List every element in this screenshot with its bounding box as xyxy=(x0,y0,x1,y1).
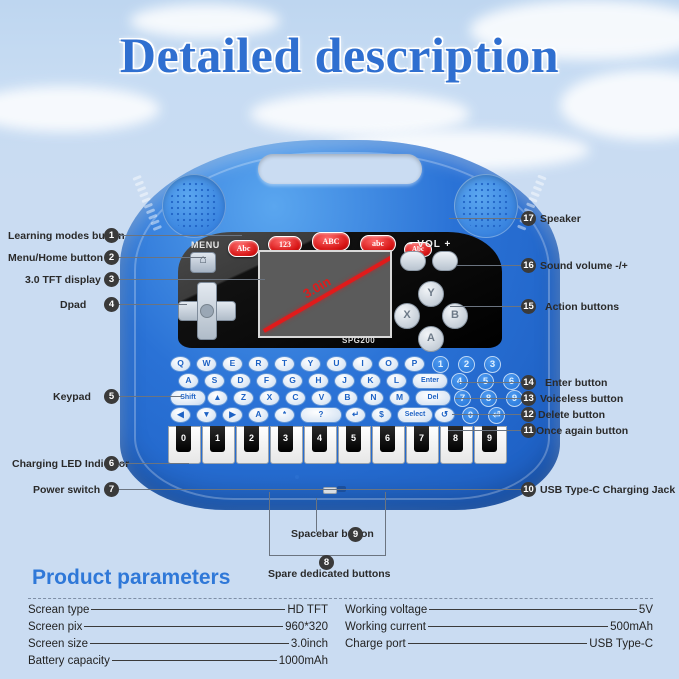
callout-line-2 xyxy=(119,257,206,258)
key-x[interactable]: ◀ xyxy=(170,407,191,423)
parameter-key: Battery capacity xyxy=(28,655,110,667)
callout-bracket-left xyxy=(269,492,270,555)
callout-label-16: Sound volume -/+ xyxy=(540,260,628,272)
callout-number-1: 1 xyxy=(104,228,119,243)
key-x[interactable]: * xyxy=(274,407,295,423)
key-x[interactable]: ▲ xyxy=(207,390,228,406)
key-3[interactable]: 3 xyxy=(484,356,501,373)
parameter-leader xyxy=(112,660,277,661)
parameter-leader xyxy=(90,643,289,644)
key-w[interactable]: W xyxy=(196,356,217,372)
key-select[interactable]: Select xyxy=(397,407,433,423)
callout-number-13: 13 xyxy=(521,391,536,406)
callout-line-11 xyxy=(448,430,521,431)
callout-label-12: Delete button xyxy=(538,409,605,421)
key-g[interactable]: G xyxy=(282,373,303,389)
piano-black-key-2[interactable]: 2 xyxy=(244,426,259,452)
key-x[interactable]: $ xyxy=(371,407,392,423)
key-enter[interactable]: Enter xyxy=(412,373,448,389)
product-parameters-title: Product parameters xyxy=(32,566,230,590)
callout-number-2: 2 xyxy=(104,250,119,265)
volume-label: − VOL + xyxy=(398,239,460,250)
action-button-y[interactable]: Y xyxy=(418,281,444,307)
parameter-value: 960*320 xyxy=(285,621,328,633)
dpad-center xyxy=(200,304,214,318)
callout-number-14: 14 xyxy=(521,375,536,390)
callout-line-17 xyxy=(449,218,521,219)
piano-black-key-7[interactable]: 7 xyxy=(414,426,429,452)
parameter-row: Screen size3.0inch xyxy=(28,638,328,655)
key-shift[interactable]: Shift xyxy=(170,390,206,406)
parameter-row: Charge portUSB Type-C xyxy=(345,638,653,655)
key-b[interactable]: B xyxy=(337,390,358,406)
key-e[interactable]: E xyxy=(222,356,243,372)
key-r[interactable]: R xyxy=(248,356,269,372)
callout-label-15: Action buttons xyxy=(545,301,619,313)
key-m[interactable]: M xyxy=(389,390,410,406)
key-x[interactable]: ▼ xyxy=(196,407,217,423)
parameter-value: 3.0inch xyxy=(291,638,328,650)
key-j[interactable]: J xyxy=(334,373,355,389)
menu-label: MENU xyxy=(191,240,220,250)
callout-label-4: Dpad xyxy=(60,299,86,311)
key-2[interactable]: 2 xyxy=(458,356,475,373)
parameters-column-left: Screan typeHD TFTScreen pix960*320Screen… xyxy=(28,604,328,672)
parameter-leader xyxy=(428,626,608,627)
parameter-key: Charge port xyxy=(345,638,406,650)
parameter-row: Screan typeHD TFT xyxy=(28,604,328,621)
callout-label-14: Enter button xyxy=(545,377,607,389)
key-x[interactable]: ↵ xyxy=(345,407,366,423)
parameter-key: Screan type xyxy=(28,604,89,616)
callout-number-12: 12 xyxy=(521,407,536,422)
callout-number-4: 4 xyxy=(104,297,119,312)
parameter-value: HD TFT xyxy=(287,604,328,616)
tft-display: 3.0in xyxy=(258,250,392,338)
volume-down-button[interactable] xyxy=(400,251,426,271)
piano-black-key-5[interactable]: 5 xyxy=(346,426,361,452)
speaker-right[interactable] xyxy=(454,174,518,238)
callout-label-17: Speaker xyxy=(540,213,581,225)
piano-black-key-1[interactable]: 1 xyxy=(210,426,225,452)
callout-line-16 xyxy=(456,265,521,266)
key-v[interactable]: V xyxy=(311,390,332,406)
parameter-key: Screen pix xyxy=(28,621,82,633)
key-l[interactable]: L xyxy=(386,373,407,389)
callout-number-7: 7 xyxy=(104,482,119,497)
callout-number-16: 16 xyxy=(521,258,536,273)
piano-black-key-0[interactable]: 0 xyxy=(176,426,191,452)
callout-label-2: Menu/Home button xyxy=(8,252,103,264)
key-a[interactable]: A xyxy=(248,407,269,423)
piano-keys[interactable]: 0123456789 xyxy=(168,426,512,464)
key-h[interactable]: H xyxy=(308,373,329,389)
key-x[interactable]: ⏎ xyxy=(488,407,505,424)
parameter-key: Screen size xyxy=(28,638,88,650)
device-illustration: Abc 123 ABC abc Abc MENU 3.0in SPG200 − … xyxy=(120,140,560,510)
callout-number-15: 15 xyxy=(521,299,536,314)
parameter-leader xyxy=(408,643,588,644)
learning-mode-chip-3[interactable]: ABC xyxy=(312,232,350,251)
callout-line-1 xyxy=(119,235,242,236)
callout-line-4 xyxy=(119,304,187,305)
charging-led-indicator xyxy=(295,475,299,479)
callout-label-11: Once again button xyxy=(536,425,628,437)
product-parameters-divider xyxy=(28,598,653,599)
menu-home-button[interactable] xyxy=(190,252,216,273)
key-q[interactable]: Q xyxy=(170,356,191,372)
callout-line-10 xyxy=(340,489,521,490)
parameter-value: 5V xyxy=(639,604,653,616)
key-t[interactable]: T xyxy=(274,356,295,372)
parameter-row: Battery capacity1000mAh xyxy=(28,655,328,672)
carry-handle xyxy=(258,154,422,184)
key-o[interactable]: O xyxy=(378,356,399,372)
callout-stem-9 xyxy=(316,498,317,532)
key-c[interactable]: C xyxy=(285,390,306,406)
page-title: Detailed description xyxy=(0,26,679,96)
callout-bracket-right xyxy=(385,492,386,555)
callout-label-13: Voiceless button xyxy=(540,393,623,405)
piano-black-key-4[interactable]: 4 xyxy=(312,426,327,452)
callout-line-6 xyxy=(119,463,189,464)
action-button-a[interactable]: A xyxy=(418,326,444,352)
dpad[interactable] xyxy=(178,282,234,338)
piano-black-key-6[interactable]: 6 xyxy=(380,426,395,452)
key-z[interactable]: Z xyxy=(233,390,254,406)
speaker-left[interactable] xyxy=(162,174,226,238)
key-x[interactable]: ↺ xyxy=(434,407,455,423)
screen-diagonal-marker xyxy=(263,255,392,332)
parameter-value: 500mAh xyxy=(610,621,653,633)
key-f[interactable]: F xyxy=(256,373,277,389)
piano-black-key-3[interactable]: 3 xyxy=(278,426,293,452)
parameter-row: Working current500mAh xyxy=(345,621,653,638)
key-d[interactable]: D xyxy=(230,373,251,389)
parameter-leader xyxy=(429,609,637,610)
callout-number-9: 9 xyxy=(348,527,363,542)
key-i[interactable]: I xyxy=(352,356,373,372)
parameter-key: Working current xyxy=(345,621,426,633)
callout-label-3: 3.0 TFT display xyxy=(25,274,101,286)
key-a[interactable]: A xyxy=(178,373,199,389)
callout-label-5: Keypad xyxy=(53,391,91,403)
callout-number-17: 17 xyxy=(521,211,536,226)
callout-number-6: 6 xyxy=(104,456,119,471)
action-button-x[interactable]: X xyxy=(394,303,420,329)
key-y[interactable]: Y xyxy=(300,356,321,372)
callout-line-5 xyxy=(119,396,182,397)
parameter-value: 1000mAh xyxy=(279,655,328,667)
key-k[interactable]: K xyxy=(360,373,381,389)
model-label: SPG200 xyxy=(342,336,375,345)
callout-label-10: USB Type-C Charging Jack xyxy=(540,484,675,496)
callout-line-3 xyxy=(119,279,265,280)
parameter-row: Working voltage5V xyxy=(345,604,653,621)
callout-line-14 xyxy=(459,382,521,383)
callout-line-13 xyxy=(455,398,521,399)
callout-number-3: 3 xyxy=(104,272,119,287)
parameter-row: Screen pix960*320 xyxy=(28,621,328,638)
keypad[interactable]: QWERTYUIOP123 ASDFGHJKLEnter456 Shift▲ZX… xyxy=(168,356,516,422)
parameter-value: USB Type-C xyxy=(589,638,653,650)
parameter-leader xyxy=(91,609,285,610)
callout-line-15 xyxy=(450,306,521,307)
key-n[interactable]: N xyxy=(363,390,384,406)
parameters-column-right: Working voltage5VWorking current500mAhCh… xyxy=(345,604,653,655)
key-1[interactable]: 1 xyxy=(432,356,449,373)
callout-line-7 xyxy=(119,489,340,490)
callout-number-11: 11 xyxy=(521,423,536,438)
key-del[interactable]: Del xyxy=(415,390,451,406)
key-u[interactable]: U xyxy=(326,356,347,372)
key-x[interactable]: X xyxy=(259,390,280,406)
parameter-leader xyxy=(84,626,283,627)
key-0[interactable]: 0 xyxy=(462,407,479,424)
callout-line-12 xyxy=(452,414,521,415)
callout-number-5: 5 xyxy=(104,389,119,404)
key-s[interactable]: S xyxy=(204,373,225,389)
learning-mode-chip-1[interactable]: Abc xyxy=(228,240,259,257)
parameter-key: Working voltage xyxy=(345,604,427,616)
callout-label-7: Power switch xyxy=(33,484,100,496)
key-x[interactable]: ? xyxy=(300,407,342,423)
key-x[interactable]: ▶ xyxy=(222,407,243,423)
callout-number-10: 10 xyxy=(521,482,536,497)
volume-up-button[interactable] xyxy=(432,251,458,271)
product-parameters-section: Product parameters Screan typeHD TFTScre… xyxy=(0,560,679,679)
key-p[interactable]: P xyxy=(404,356,425,372)
